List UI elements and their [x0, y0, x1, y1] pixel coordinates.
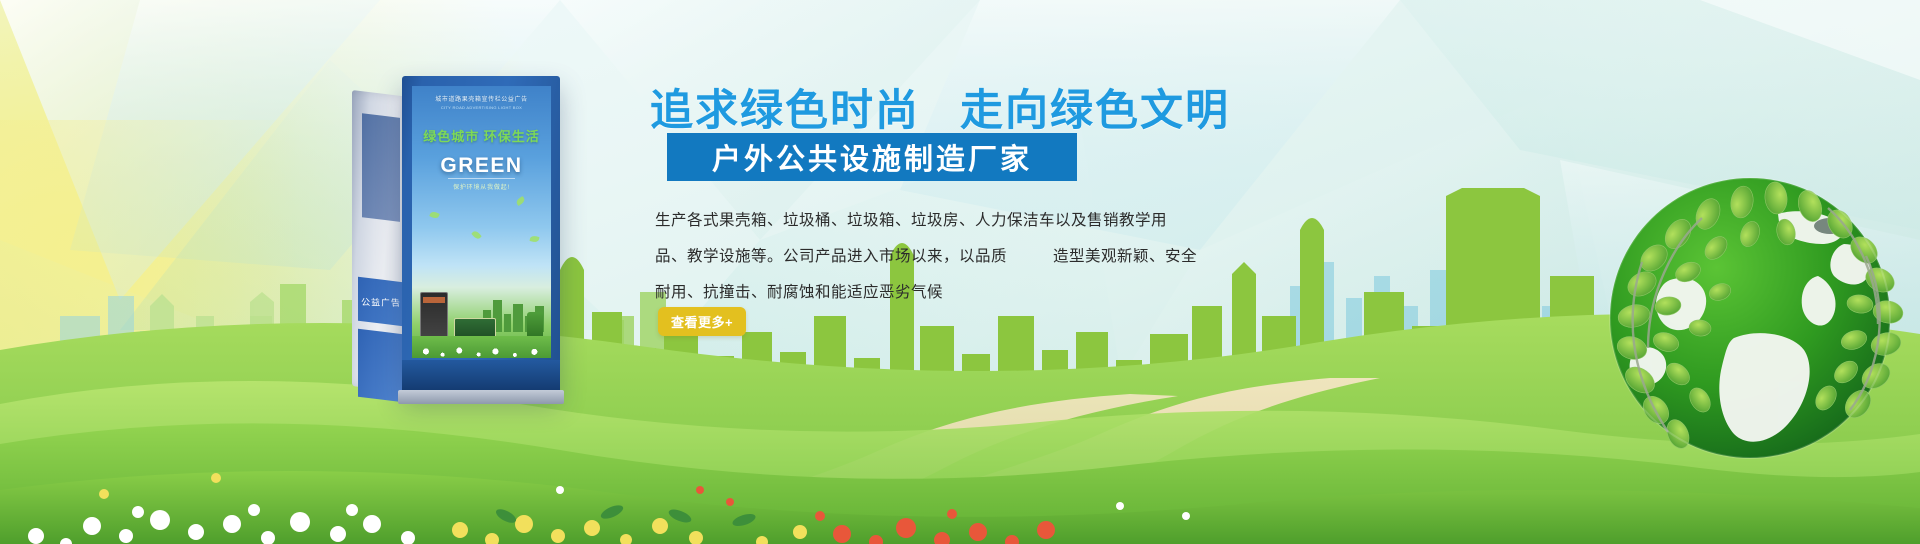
- view-more-button[interactable]: 查看更多+: [658, 307, 746, 336]
- kiosk-side-label: 公益广告: [358, 277, 404, 327]
- kiosk-poster: 城市道路果壳箱宣传栏公益广告 CITY ROAD ADVERTISING LIG…: [412, 86, 551, 358]
- subtitle-text: 户外公共设施制造厂家: [712, 136, 1032, 178]
- description-line-3: 耐用、抗撞击、耐腐蚀和能适应恶劣气候: [655, 275, 1125, 311]
- kiosk-body: 城市道路果壳箱宣传栏公益广告 CITY ROAD ADVERTISING LIG…: [402, 76, 560, 394]
- description-line-2a: 品、教学设施等。公司产品进入市场以来，以品质: [655, 248, 1007, 265]
- kiosk-poster-head-line2: CITY ROAD ADVERTISING LIGHT BOX: [418, 104, 546, 111]
- description-line-2b: 造型美观新颖、安全: [1053, 248, 1197, 265]
- kiosk-poster-side-ad: [420, 292, 448, 342]
- kiosk-poster-flower-field: [412, 336, 551, 358]
- kiosk-poster-rule: [448, 178, 515, 179]
- leaf-icon: [529, 235, 539, 243]
- page-title: 追求绿色时尚走向绿色文明: [650, 76, 1230, 138]
- kiosk-base: [398, 390, 564, 404]
- kiosk-side-window: [362, 113, 400, 222]
- kiosk-poster-brand: GREEN: [440, 154, 522, 178]
- leaf-icon: [471, 230, 481, 241]
- hero-banner: 公益广告 城市道路果壳箱宣传栏公益广告 CITY ROAD ADVERTISIN…: [0, 0, 1920, 544]
- description-line-2: 品、教学设施等。公司产品进入市场以来，以品质造型美观新颖、安全: [655, 239, 1125, 275]
- leaf-globe: [1582, 152, 1912, 482]
- kiosk-poster-title: 绿色城市 环保生活: [423, 126, 540, 145]
- leaf-icon: [429, 211, 440, 220]
- leaf-icon: [515, 196, 526, 206]
- headline-part-2: 走向绿色文明: [960, 87, 1230, 135]
- kiosk-poster-trash-bin: [527, 312, 543, 338]
- subtitle-banner: 户外公共设施制造厂家: [667, 133, 1077, 181]
- kiosk-poster-head-line1: 城市道路果壳箱宣传栏公益广告: [418, 96, 546, 104]
- kiosk-poster-header: 城市道路果壳箱宣传栏公益广告 CITY ROAD ADVERTISING LIG…: [418, 96, 546, 111]
- kiosk-side-label-text: 公益广告: [360, 295, 401, 309]
- kiosk-foot: [402, 360, 560, 390]
- description-text: 生产各式果壳箱、垃圾桶、垃圾箱、垃圾房、人力保洁车以及售销教学用 品、教学设施等…: [655, 203, 1125, 311]
- outdoor-kiosk: 公益广告 城市道路果壳箱宣传栏公益广告 CITY ROAD ADVERTISIN…: [352, 76, 560, 396]
- description-line-1: 生产各式果壳箱、垃圾桶、垃圾箱、垃圾房、人力保洁车以及售销教学用: [655, 203, 1125, 239]
- kiosk-poster-tagline: 保护环境从我做起!: [453, 182, 510, 191]
- headline-part-1: 追求绿色时尚: [650, 87, 920, 135]
